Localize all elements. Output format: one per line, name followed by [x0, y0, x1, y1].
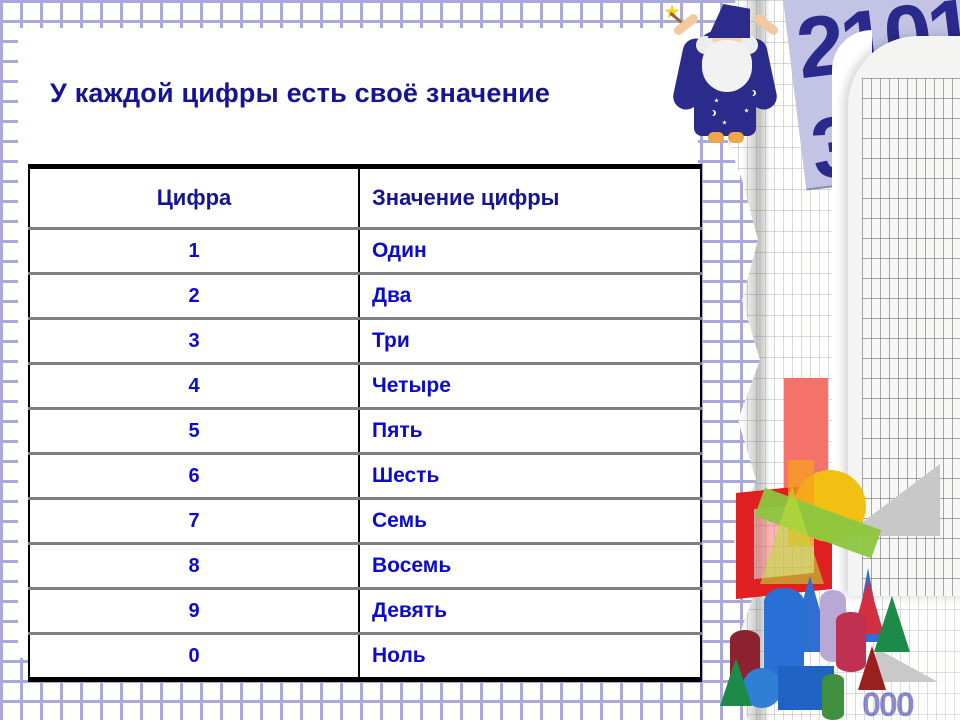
robe-moon-3 [748, 90, 754, 96]
geometric-shapes-group [726, 378, 960, 720]
cell-digit: 1 [29, 229, 359, 274]
table-row: 3 Три [29, 319, 701, 364]
bottom-decorative-digits: 000 [862, 686, 913, 720]
green-cylinder [822, 674, 844, 720]
cell-word: Восемь [359, 544, 701, 589]
table-row: 9 Девять [29, 589, 701, 634]
wizard-left-foot [708, 132, 724, 143]
dark-red-pyramid [858, 646, 886, 690]
cell-word: Один [359, 229, 701, 274]
table-row: 0 Ноль [29, 634, 701, 680]
table-row: 7 Семь [29, 499, 701, 544]
cell-word: Пять [359, 409, 701, 454]
wizard-hat [704, 4, 750, 38]
table-header-row: Цифра Значение цифры [29, 167, 701, 229]
slide-canvas: 21011 3010 [0, 0, 960, 720]
digit-table: Цифра Значение цифры 1 Один 2 Два 3 Три [28, 164, 702, 682]
column-header-meaning: Значение цифры [359, 167, 701, 229]
cell-digit: 0 [29, 634, 359, 680]
table-row: 8 Восемь [29, 544, 701, 589]
column-header-digit: Цифра [29, 167, 359, 229]
cell-digit: 5 [29, 409, 359, 454]
cell-word: Шесть [359, 454, 701, 499]
cell-word: Девять [359, 589, 701, 634]
table-body: 1 Один 2 Два 3 Три 4 Четыре 5 Пять [29, 229, 701, 680]
table-row: 6 Шесть [29, 454, 701, 499]
table-row: 1 Один [29, 229, 701, 274]
digit-table-container: Цифра Значение цифры 1 Один 2 Два 3 Три [28, 164, 700, 682]
cell-digit: 8 [29, 544, 359, 589]
green-cone-2 [720, 658, 752, 706]
page-title: У каждой цифры есть своё значение [50, 78, 550, 109]
cell-digit: 4 [29, 364, 359, 409]
cell-word: Ноль [359, 634, 701, 680]
table-row: 5 Пять [29, 409, 701, 454]
wizard-right-foot [728, 132, 744, 143]
cell-word: Четыре [359, 364, 701, 409]
table-row: 2 Два [29, 274, 701, 319]
green-cone [874, 596, 910, 652]
wizard-icon [660, 2, 790, 152]
cell-digit: 6 [29, 454, 359, 499]
cell-digit: 7 [29, 499, 359, 544]
cell-word: Три [359, 319, 701, 364]
wizard-beard [702, 40, 752, 92]
table-row: 4 Четыре [29, 364, 701, 409]
cell-digit: 9 [29, 589, 359, 634]
wizard-right-arm [752, 12, 780, 36]
robe-moon-2 [708, 110, 714, 116]
cell-word: Семь [359, 499, 701, 544]
cell-digit: 3 [29, 319, 359, 364]
cell-digit: 2 [29, 274, 359, 319]
cell-word: Два [359, 274, 701, 319]
